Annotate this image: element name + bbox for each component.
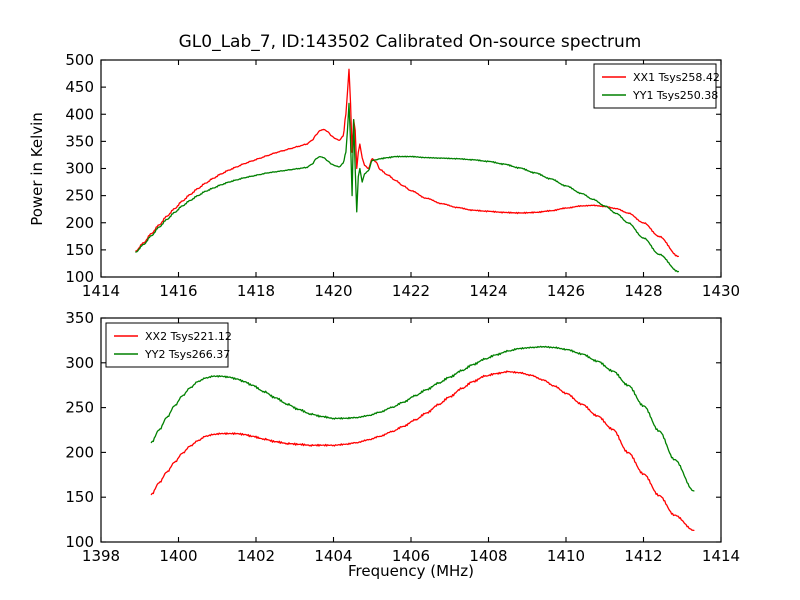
x-tick-label: 1428 — [624, 282, 662, 300]
series-line — [151, 371, 694, 530]
top-panel: 1414141614181420142214241426142814301001… — [28, 51, 740, 300]
y-tick-label: 350 — [65, 132, 94, 150]
y-tick-label: 400 — [65, 105, 94, 123]
x-tick-label: 1420 — [314, 282, 352, 300]
x-tick-label: 1426 — [547, 282, 585, 300]
y-tick-label: 300 — [65, 354, 94, 372]
matplotlib-figure: GL0_Lab_7, ID:143502 Calibrated On-sourc… — [0, 0, 800, 600]
y-tick-label: 350 — [65, 309, 94, 327]
series-line — [151, 346, 694, 491]
bottom-panel-legend[interactable]: XX2 Tsys221.12YY2 Tsys266.37 — [106, 323, 232, 367]
y-tick-label: 150 — [65, 488, 94, 506]
x-tick-label: 1410 — [547, 547, 585, 565]
bottom-panel-series — [151, 346, 694, 530]
x-tick-label: 1408 — [469, 547, 507, 565]
legend-label: YY2 Tsys266.37 — [144, 348, 230, 361]
top-panel-ylabel: Power in Kelvin — [28, 112, 46, 226]
legend-label: XX2 Tsys221.12 — [145, 330, 232, 343]
y-tick-label: 500 — [65, 51, 94, 69]
x-tick-label: 1416 — [159, 282, 197, 300]
x-tick-label: 1414 — [702, 547, 740, 565]
y-tick-label: 100 — [65, 268, 94, 286]
top-panel-legend[interactable]: XX1 Tsys258.42YY1 Tsys250.38 — [594, 64, 720, 108]
y-tick-label: 250 — [65, 187, 94, 205]
page-title: GL0_Lab_7, ID:143502 Calibrated On-sourc… — [179, 32, 642, 52]
bottom-panel: 1398140014021404140614081410141214141001… — [65, 309, 740, 580]
y-tick-label: 200 — [65, 443, 94, 461]
y-tick-label: 300 — [65, 160, 94, 178]
x-tick-label: 1422 — [392, 282, 430, 300]
y-tick-label: 150 — [65, 241, 94, 259]
y-tick-label: 250 — [65, 399, 94, 417]
x-tick-label: 1404 — [314, 547, 352, 565]
legend-label: YY1 Tsys250.38 — [632, 89, 718, 102]
y-tick-label: 100 — [65, 533, 94, 551]
x-tick-label: 1412 — [624, 547, 662, 565]
y-tick-label: 200 — [65, 214, 94, 232]
x-tick-label: 1418 — [237, 282, 275, 300]
spectrum-plot: GL0_Lab_7, ID:143502 Calibrated On-sourc… — [0, 0, 800, 600]
x-tick-label: 1424 — [469, 282, 507, 300]
bottom-panel-xlabel: Frequency (MHz) — [348, 562, 474, 580]
x-tick-label: 1402 — [237, 547, 275, 565]
x-tick-label: 1400 — [159, 547, 197, 565]
y-tick-label: 450 — [65, 78, 94, 96]
x-tick-label: 1430 — [702, 282, 740, 300]
legend-label: XX1 Tsys258.42 — [633, 71, 720, 84]
